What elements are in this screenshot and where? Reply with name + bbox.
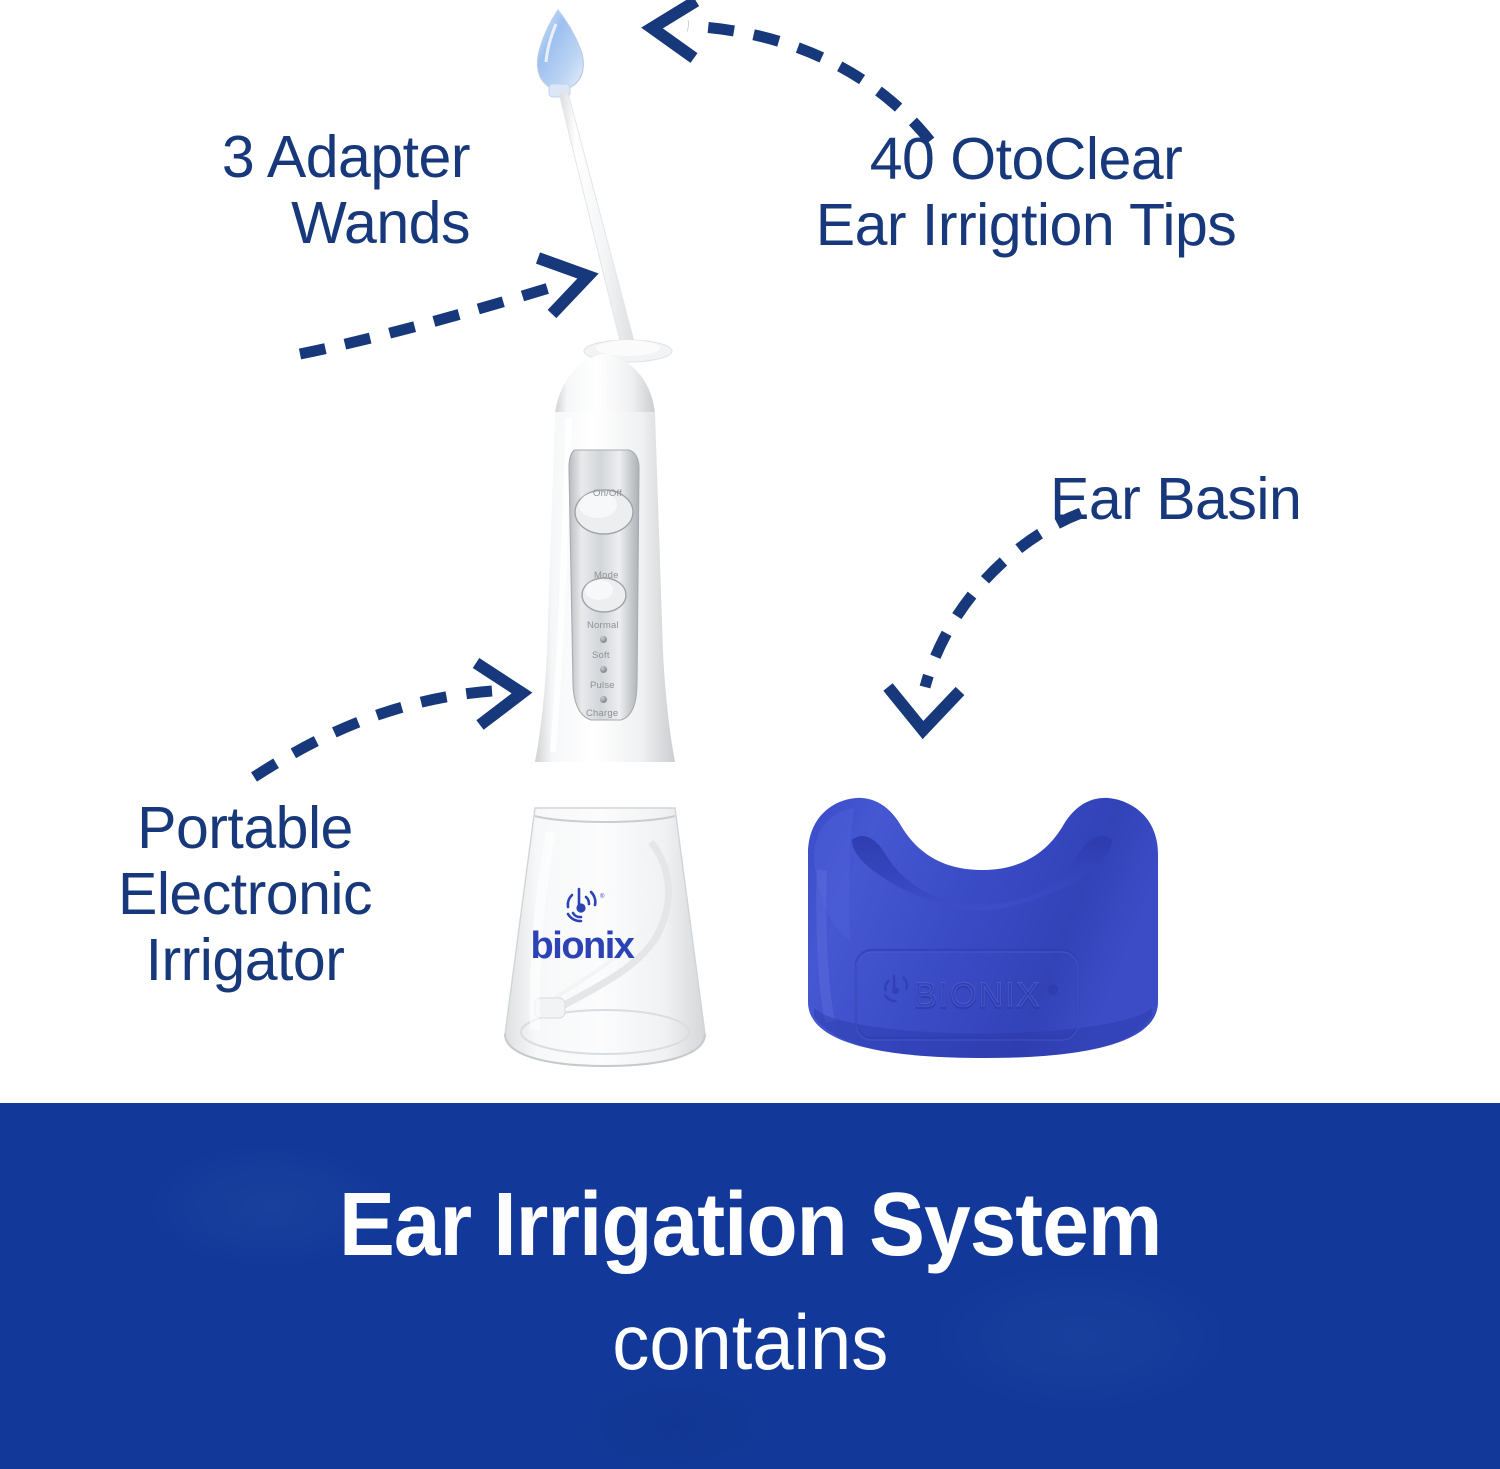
callout-label-portable-irrigator: Portable Electronic Irrigator <box>40 795 450 993</box>
led-indicator-normal <box>600 636 607 643</box>
svg-text:®: ® <box>600 893 605 900</box>
indicator-label-soft: Soft <box>592 650 610 661</box>
ear-basin: BIONIX BIONIX ® <box>790 770 1180 1070</box>
irrigator-body <box>455 352 755 852</box>
led-indicator-soft <box>600 666 607 673</box>
led-indicator-pulse <box>600 696 607 703</box>
banner-subtitle: contains <box>612 1302 888 1384</box>
indicator-label-charge: Charge <box>586 708 618 719</box>
power-button-label: On/Off <box>593 488 622 499</box>
callout-label-adapter-wands: 3 Adapter Wands <box>50 124 470 256</box>
bionix-swirl-icon: ® <box>559 886 605 926</box>
basin-registered-mark: ® <box>1048 982 1058 997</box>
mode-button-label: Mode <box>594 570 619 581</box>
portable-electronic-irrigator: On/Off Mode Normal Soft Pulse Charge <box>455 0 755 1080</box>
product-infographic: 3 Adapter Wands 40 OtoClear Ear Irrigtio… <box>0 0 1500 1469</box>
svg-text:BIONIX: BIONIX <box>914 976 1041 1014</box>
bionix-logo: ® bionix <box>517 886 647 965</box>
indicator-label-pulse: Pulse <box>590 680 615 691</box>
banner-title: Ear Irrigation System <box>339 1178 1161 1273</box>
bottom-banner: Ear Irrigation System contains <box>0 1103 1500 1469</box>
dashed-arrow-to-ear-basin <box>885 495 1115 755</box>
adapter-wand <box>455 85 755 375</box>
indicator-label-normal: Normal <box>587 620 619 631</box>
bionix-wordmark: bionix <box>517 927 647 965</box>
